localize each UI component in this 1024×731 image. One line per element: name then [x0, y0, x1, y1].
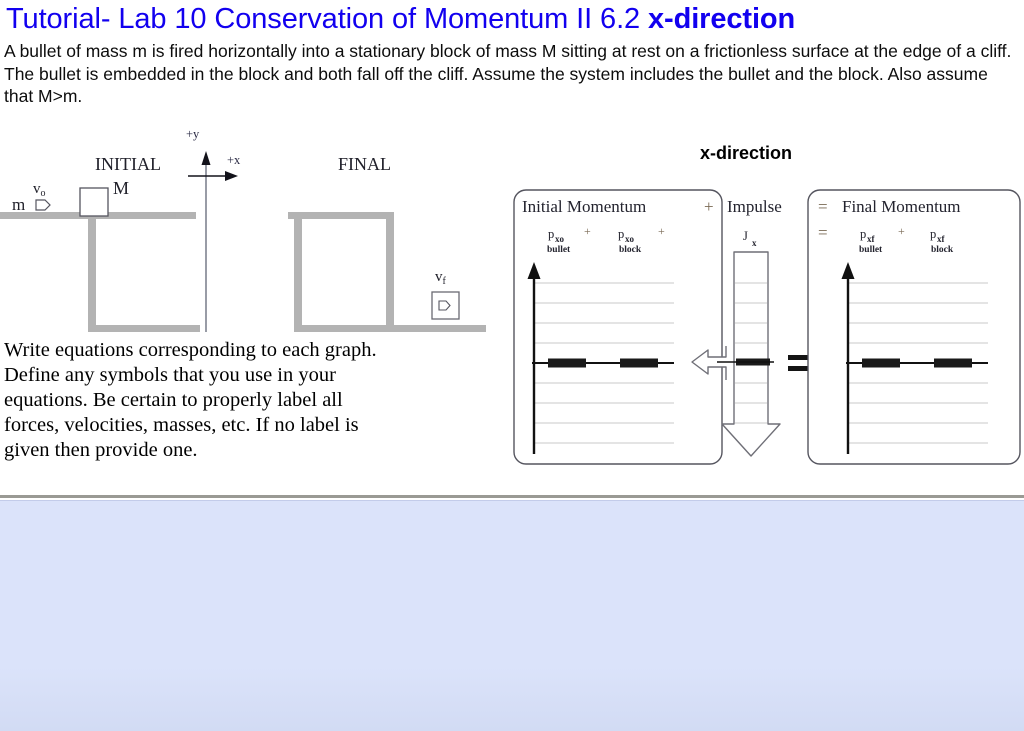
series-symbol-sub-bullet: xo	[555, 234, 565, 244]
instructions-line-4: forces, velocities, masses, etc. If no l…	[4, 413, 496, 438]
series-plus-trailing: +	[658, 224, 665, 238]
instructions-line-5: given then provide one.	[4, 438, 496, 463]
series-category-bullet: bullet	[547, 245, 571, 255]
series-symbol-bullet: p	[548, 227, 554, 241]
series-symbol-sub-block: xo	[625, 234, 635, 244]
impulse-symbol: J	[743, 229, 748, 243]
final-series-category-bullet: bullet	[859, 245, 883, 255]
series-category-block: block	[619, 245, 642, 255]
final-block	[432, 292, 459, 319]
equals-sign-between-panels	[788, 355, 808, 371]
series-plus-sign: +	[584, 224, 591, 238]
final-series-symbol-bullet: p	[860, 227, 866, 241]
instructions-line-3: equations. Be certain to properly label …	[4, 388, 496, 413]
slide-canvas: Tutorial- Lab 10 Conservation of Momentu…	[0, 0, 1024, 498]
panel-header-impulse: Impulse	[727, 197, 782, 216]
initial-cliff	[0, 212, 200, 332]
initial-bullet	[36, 200, 50, 210]
chart-panel-final-momentum: = Final Momentum = p xf bullet + p xf bl…	[808, 190, 1020, 464]
impulse-symbol-sub: x	[752, 238, 757, 248]
instructions-line-2: Define any symbols that you use in your	[4, 363, 496, 388]
final-series-symbol-sub-bullet: xf	[867, 234, 876, 244]
instructions-block: Write equations corresponding to each gr…	[4, 338, 496, 463]
panel-header-initial-momentum: Initial Momentum	[522, 197, 646, 216]
panel-operator-equals-header: =	[818, 197, 828, 216]
page-title-main: Tutorial- Lab 10 Conservation of Momentu…	[6, 3, 648, 35]
panel-header-final-momentum: Final Momentum	[842, 197, 961, 216]
final-label: FINAL	[338, 154, 391, 174]
final-series-plus-sign: +	[898, 224, 905, 238]
series-symbol-block: p	[618, 227, 624, 241]
notes-pane[interactable]	[0, 500, 1024, 731]
bullet-mass-label: m	[12, 195, 25, 214]
problem-statement: A bullet of mass m is fired horizontally…	[4, 40, 1016, 108]
final-velocity-label: vf	[435, 269, 447, 287]
initial-block	[80, 188, 108, 216]
panel-operator-plus: +	[704, 197, 714, 216]
initial-label: INITIAL	[95, 154, 161, 174]
initial-velocity-label: vo	[33, 181, 46, 199]
situation-diagram: INITIAL FINAL +y +x	[0, 126, 500, 346]
final-series-category-block: block	[931, 245, 954, 255]
bar-final-block[interactable]	[934, 359, 972, 368]
chart-group-title: x-direction	[700, 143, 792, 164]
momentum-bar-chart-group: .hdr { font-family: "Liberation Serif", …	[512, 188, 1022, 466]
panel-operator-equals-inline: =	[818, 223, 828, 242]
chart-panel-initial-momentum: Initial Momentum + p xo bullet + p xo bl…	[514, 190, 722, 464]
bar-final-bullet[interactable]	[862, 359, 900, 368]
axis-label-plus-y: +y	[186, 127, 200, 141]
page-title-emphasis: x-direction	[648, 3, 795, 35]
coordinate-axes: +y +x	[186, 127, 241, 332]
bar-initial-bullet[interactable]	[548, 359, 586, 368]
axis-label-plus-x: +x	[227, 153, 241, 167]
bar-initial-block[interactable]	[620, 359, 658, 368]
page-title: Tutorial- Lab 10 Conservation of Momentu…	[6, 2, 1020, 36]
final-series-symbol-sub-block: xf	[937, 234, 946, 244]
instructions-line-1: Write equations corresponding to each gr…	[4, 338, 496, 363]
notes-separator	[0, 495, 1024, 498]
block-mass-label: M	[113, 178, 129, 198]
final-series-symbol-block: p	[930, 227, 936, 241]
